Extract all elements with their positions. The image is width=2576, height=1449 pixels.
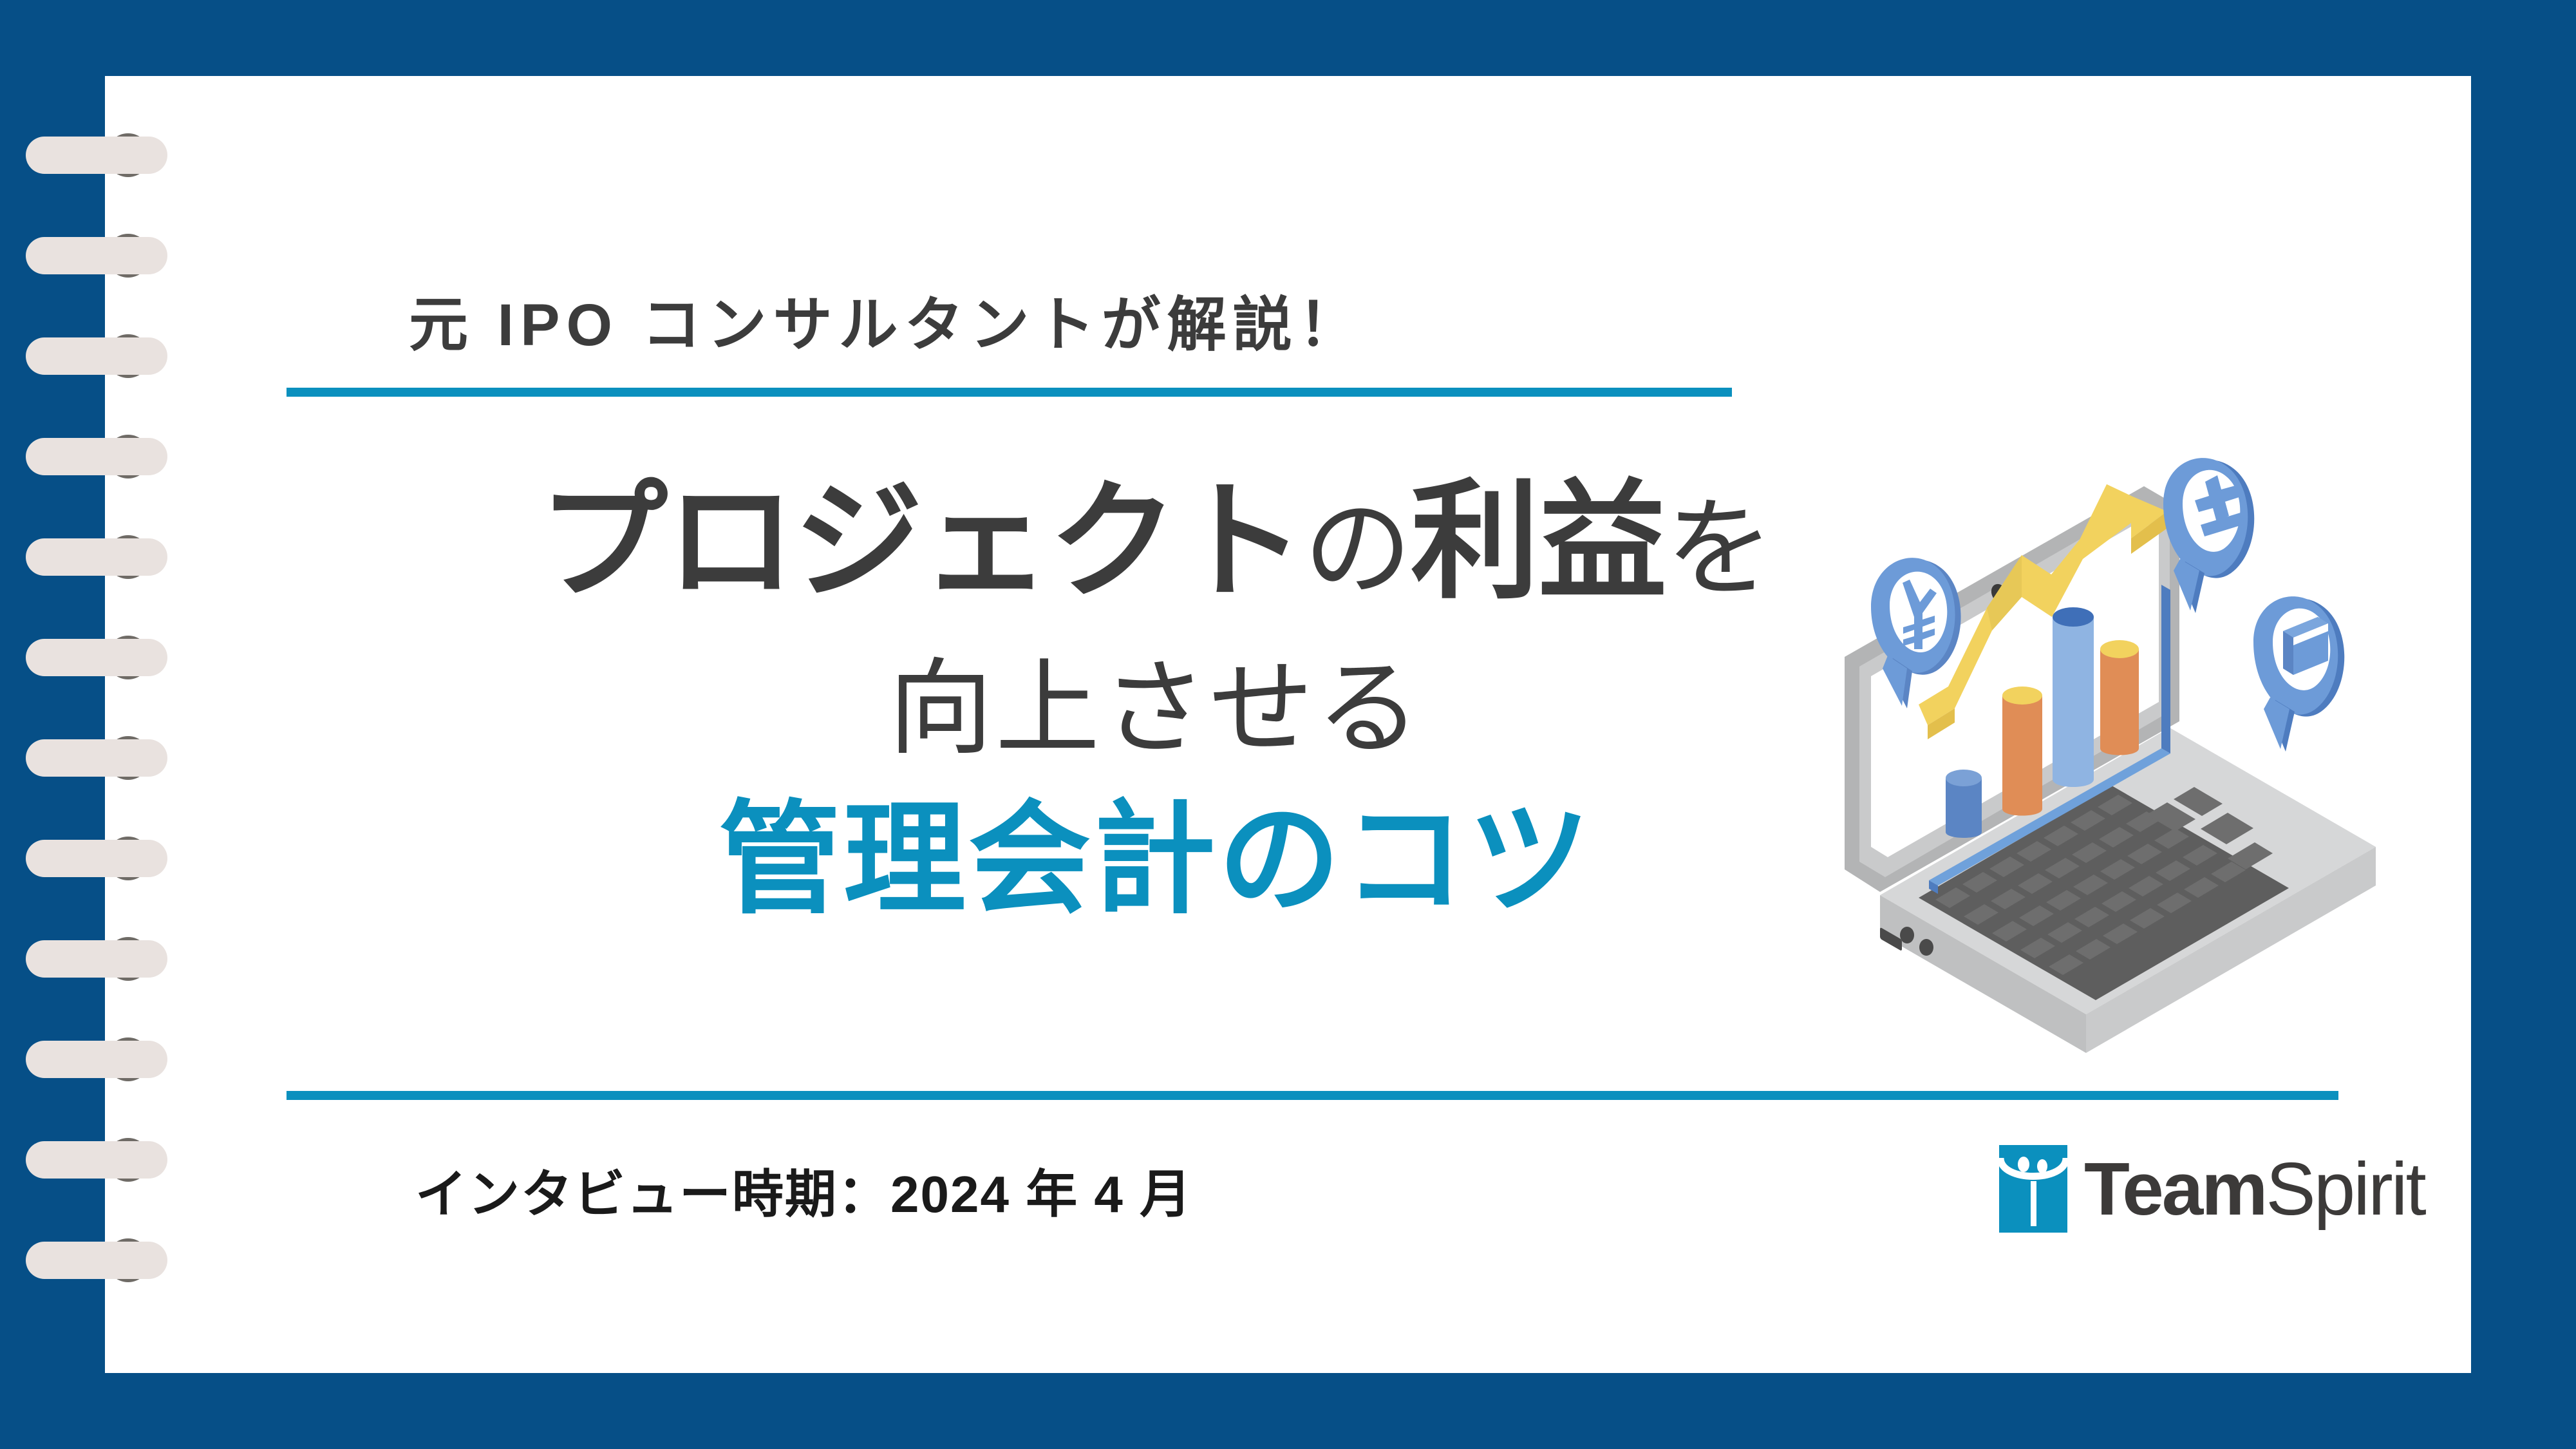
spiral-ring: [0, 237, 212, 274]
spiral-ring: [0, 1141, 212, 1179]
page-title-line-3-highlight: 管理会計のコツ: [287, 799, 2025, 921]
spiral-ring-bar: [26, 538, 167, 576]
chart-bar-3: [2053, 607, 2094, 787]
title-particle-1: の: [1304, 488, 1411, 609]
title-bold-1: プロジェクト: [539, 470, 1304, 614]
page-title-line-1: プロジェクトの利益を: [287, 478, 2025, 607]
laptop-analytics-illustration: [1809, 444, 2440, 1063]
interview-date-note: インタビュー時期：2024 年 4 月: [415, 1153, 1192, 1227]
logo-word-team: Team: [2084, 1147, 2266, 1231]
spiral-ring: [0, 1041, 212, 1078]
spiral-binding: [0, 0, 212, 1449]
teamspirit-logo: TeamSpirit: [1999, 1145, 2425, 1233]
spiral-ring: [0, 639, 212, 676]
divider-bottom: [287, 1091, 2338, 1100]
spiral-ring: [0, 840, 212, 877]
page-title-line-2: 向上させる: [287, 657, 2025, 761]
wallet-bubble: [2253, 596, 2344, 752]
title-particle-2: を: [1666, 488, 1772, 609]
spiral-ring-bar: [26, 1041, 167, 1078]
spiral-ring: [0, 1242, 212, 1279]
chart-bar-2: [2002, 687, 2042, 816]
spiral-ring: [0, 739, 212, 777]
spiral-ring: [0, 940, 212, 978]
teamspirit-wordmark: TeamSpirit: [2084, 1151, 2425, 1226]
logo-word-spirit: Spirit: [2266, 1147, 2424, 1231]
teamspirit-figure-mark: [1999, 1145, 2067, 1233]
eyebrow-text: 元 IPO コンサルタントが解説！: [409, 277, 1364, 363]
spiral-ring-bar: [26, 337, 167, 375]
spiral-ring-bar: [26, 840, 167, 877]
divider-top: [287, 388, 1732, 397]
spiral-ring: [0, 538, 212, 576]
spiral-ring: [0, 438, 212, 475]
spiral-ring: [0, 137, 212, 174]
spiral-ring-bar: [26, 438, 167, 475]
spiral-ring-bar: [26, 1242, 167, 1279]
spiral-ring: [0, 337, 212, 375]
spiral-ring-bar: [26, 940, 167, 978]
spiral-ring-bar: [26, 739, 167, 777]
spiral-ring-bar: [26, 137, 167, 174]
title-bold-2: 利益: [1411, 470, 1666, 614]
spiral-ring-bar: [26, 1141, 167, 1179]
spiral-ring-bar: [26, 639, 167, 676]
chart-bar-1: [1946, 770, 1982, 838]
slide-canvas: 元 IPO コンサルタントが解説！ プロジェクトの利益を 向上させる 管理会計の…: [0, 0, 2576, 1449]
chart-bar-4: [2100, 640, 2139, 755]
spiral-ring-bar: [26, 237, 167, 274]
